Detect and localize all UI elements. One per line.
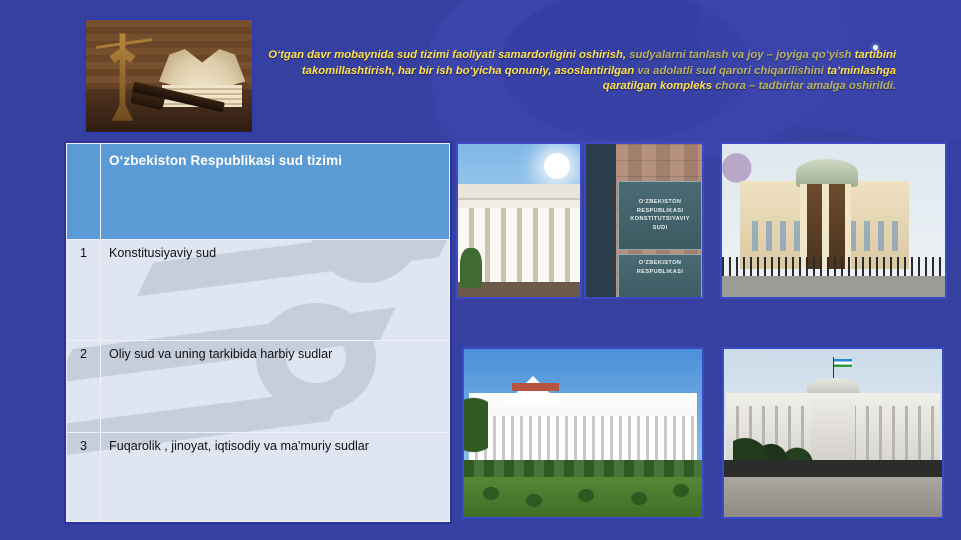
slide-canvas: O‘tgan davr mobaynida sud tizimi faoliya… — [0, 0, 961, 540]
row-label: Fuqarolik , jinoyat, iqtisodiy va ma'mur… — [101, 433, 450, 522]
row-label: Oliy sud va uning tarkibida harbiy sudla… — [101, 340, 450, 433]
uzbekistan-flag-icon — [834, 359, 852, 367]
bullet-dot-icon — [873, 45, 878, 50]
constitutional-court-building-photo — [456, 142, 582, 299]
row-number: 2 — [67, 340, 101, 433]
court-system-table: O‘zbekiston Respublikasi sud tizimi 1 Ko… — [64, 141, 452, 524]
sign-line: RESPUBLIKASI — [637, 268, 683, 277]
constitutional-court-sign-photo: O‘ZBEKISTON RESPUBLIKASI KONSTITUTSIYAVI… — [584, 142, 704, 299]
table-row[interactable]: 2 Oliy sud va uning tarkibida harbiy sud… — [67, 340, 450, 433]
sign-plaque-bottom: O‘ZBEKISTON RESPUBLIKASI — [618, 254, 701, 299]
headline-segment-4: va adolatli sud qarori chiqarilishini — [637, 65, 827, 77]
supreme-court-building-photo — [462, 347, 704, 519]
table-row[interactable]: 3 Fuqarolik , jinoyat, iqtisodiy va ma'm… — [67, 433, 450, 522]
sign-plaque-top: O‘ZBEKISTON RESPUBLIKASI KONSTITUTSIYAVI… — [618, 181, 701, 250]
justice-scales-photo — [84, 18, 254, 134]
sign-line: RESPUBLIKASI — [637, 207, 683, 216]
table-header-row: O‘zbekiston Respublikasi sud tizimi — [67, 144, 450, 240]
table-row[interactable]: 1 Konstitusiyaviy sud — [67, 239, 450, 340]
header-cell-number — [67, 144, 101, 240]
row-number: 3 — [67, 433, 101, 522]
row-number: 1 — [67, 239, 101, 340]
regional-court-building-photo — [720, 142, 947, 299]
sign-line: O‘ZBEKISTON — [639, 259, 682, 268]
headline-text: O‘tgan davr mobaynida sud tizimi faoliya… — [262, 48, 896, 95]
headline-segment-1: O‘tgan davr mobaynida sud tizimi faoliya… — [268, 49, 629, 61]
headline-segment-2: sudyalarni tanlash va joy – joyiga qo‘yi… — [629, 49, 854, 61]
header-cell-title: O‘zbekiston Respublikasi sud tizimi — [101, 144, 450, 240]
administrative-court-building-photo — [722, 347, 944, 519]
sign-line: O‘ZBEKISTON — [639, 198, 682, 207]
row-label: Konstitusiyaviy sud — [101, 239, 450, 340]
headline-segment-6: chora – tadbirlar amalga oshirildi. — [715, 80, 896, 92]
sign-line: KONSTITUTSIYAVIY — [630, 215, 690, 224]
sign-line: SUDI — [653, 224, 668, 233]
